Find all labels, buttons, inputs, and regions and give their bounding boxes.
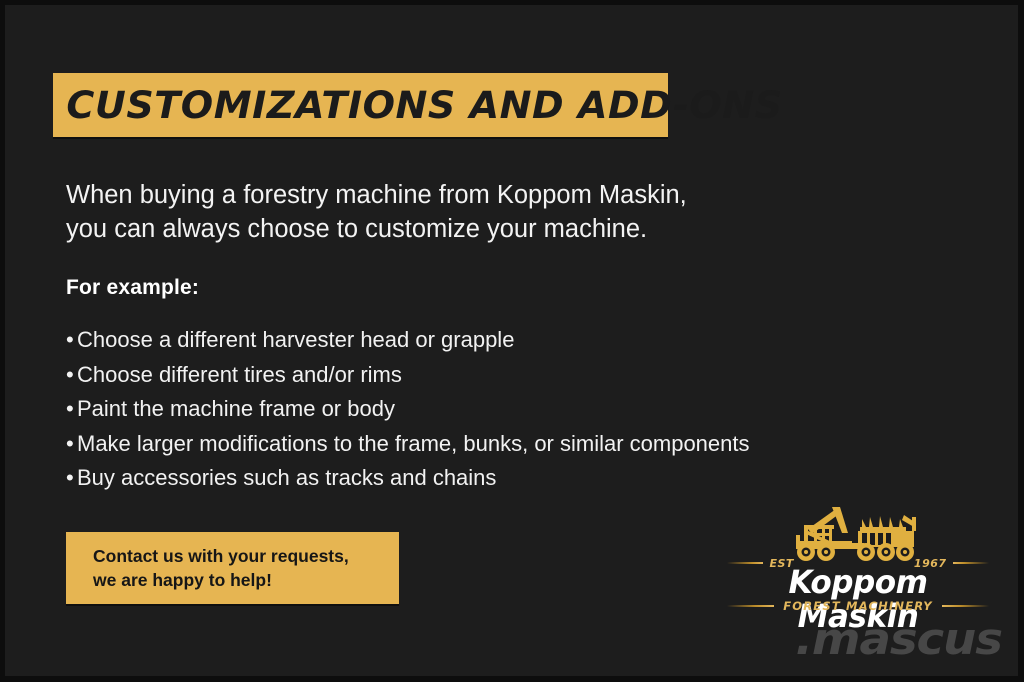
page-title: CUSTOMIZATIONS AND ADD-ONS [53,87,783,124]
forestry-forwarder-icon [774,503,946,561]
intro-paragraph: When buying a forestry machine from Kopp… [66,178,846,246]
bullet-marker-icon: • [66,358,77,393]
slide-border-bottom [0,676,1024,682]
for-example-heading: For example: [66,276,199,300]
contact-cta-box[interactable]: Contact us with your requests, we are ha… [66,532,399,604]
logo-divider-right [953,562,989,564]
logo-tagline-divider-right [942,605,989,607]
logo-tagline: FOREST MACHINERY [774,599,942,613]
list-item: •Paint the machine frame or body [66,392,926,427]
mascus-watermark: .mascus [737,617,1002,663]
koppom-maskin-logo: EST 1967 Koppom Maskin FOREST MACHINERY [727,503,989,615]
marketing-slide: CUSTOMIZATIONS AND ADD-ONS When buying a… [0,0,1024,682]
slide-border-left [0,0,5,682]
title-banner: CUSTOMIZATIONS AND ADD-ONS [53,73,668,137]
bullet-marker-icon: • [66,392,77,427]
slide-border-top [0,0,1024,5]
intro-line-1: When buying a forestry machine from Kopp… [66,178,846,212]
list-item-label: Choose a different harvester head or gra… [77,327,514,352]
list-item-label: Choose different tires and/or rims [77,362,402,387]
list-item-label: Paint the machine frame or body [77,396,395,421]
list-item-label: Buy accessories such as tracks and chain… [77,465,496,490]
bullet-marker-icon: • [66,427,77,462]
logo-divider-left [727,562,763,564]
intro-line-2: you can always choose to customize your … [66,212,846,246]
list-item: •Choose a different harvester head or gr… [66,323,926,358]
contact-cta-line-2: we are happy to help! [66,568,399,592]
logo-tagline-divider-left [727,605,774,607]
list-item: •Choose different tires and/or rims [66,358,926,393]
bullet-marker-icon: • [66,461,77,496]
customization-list: •Choose a different harvester head or gr… [66,323,926,496]
list-item-label: Make larger modifications to the frame, … [77,431,750,456]
list-item: •Make larger modifications to the frame,… [66,427,926,462]
logo-tagline-row: FOREST MACHINERY [727,599,989,613]
slide-border-right [1018,0,1024,682]
contact-cta-line-1: Contact us with your requests, [66,544,399,568]
bullet-marker-icon: • [66,323,77,358]
list-item: •Buy accessories such as tracks and chai… [66,461,926,496]
